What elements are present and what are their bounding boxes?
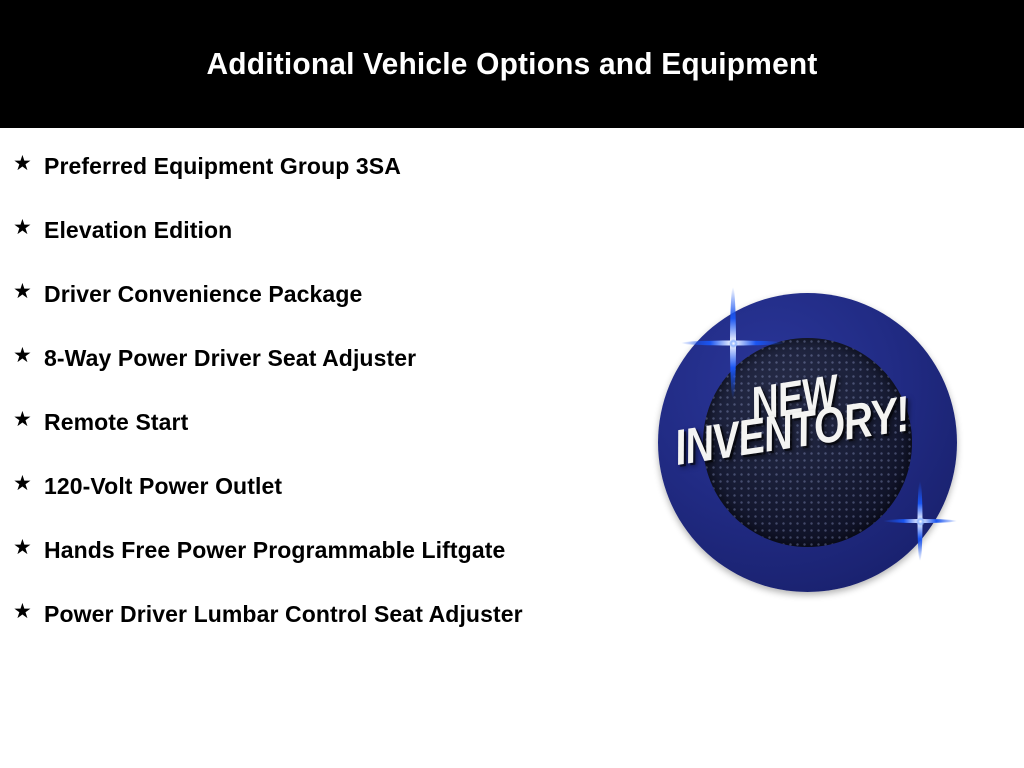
list-item: ★ Remote Start [0,405,600,447]
star-bullet-icon: ★ [13,277,44,305]
vehicle-options-list: ★ Preferred Equipment Group 3SA ★ Elevat… [0,128,600,639]
star-bullet-icon: ★ [13,341,44,369]
option-label: Preferred Equipment Group 3SA [44,149,539,183]
halftone-dot-pattern [703,338,912,547]
option-label: Elevation Edition [44,213,539,247]
list-item: ★ Power Driver Lumbar Control Seat Adjus… [0,597,600,639]
star-bullet-icon: ★ [13,149,44,177]
option-label: 120-Volt Power Outlet [44,469,539,503]
title-banner: Additional Vehicle Options and Equipment [0,0,1024,128]
new-inventory-badge: NEW INVENTORY! [655,288,961,594]
badge-inner-disc [703,338,912,547]
list-item: ★ Preferred Equipment Group 3SA [0,149,600,191]
list-item: ★ 8-Way Power Driver Seat Adjuster [0,341,600,383]
list-item: ★ Hands Free Power Programmable Liftgate [0,533,600,575]
star-bullet-icon: ★ [13,213,44,241]
star-bullet-icon: ★ [13,533,44,561]
list-item: ★ Driver Convenience Package [0,277,600,319]
option-label: Driver Convenience Package [44,277,539,311]
option-label: Hands Free Power Programmable Liftgate [44,533,539,567]
option-label: Power Driver Lumbar Control Seat Adjuste… [44,597,539,631]
star-bullet-icon: ★ [13,405,44,433]
star-bullet-icon: ★ [13,597,44,625]
star-bullet-icon: ★ [13,469,44,497]
list-item: ★ Elevation Edition [0,213,600,255]
page-title: Additional Vehicle Options and Equipment [18,0,1006,128]
option-label: 8-Way Power Driver Seat Adjuster [44,341,539,375]
list-item: ★ 120-Volt Power Outlet [0,469,600,511]
option-label: Remote Start [44,405,539,439]
